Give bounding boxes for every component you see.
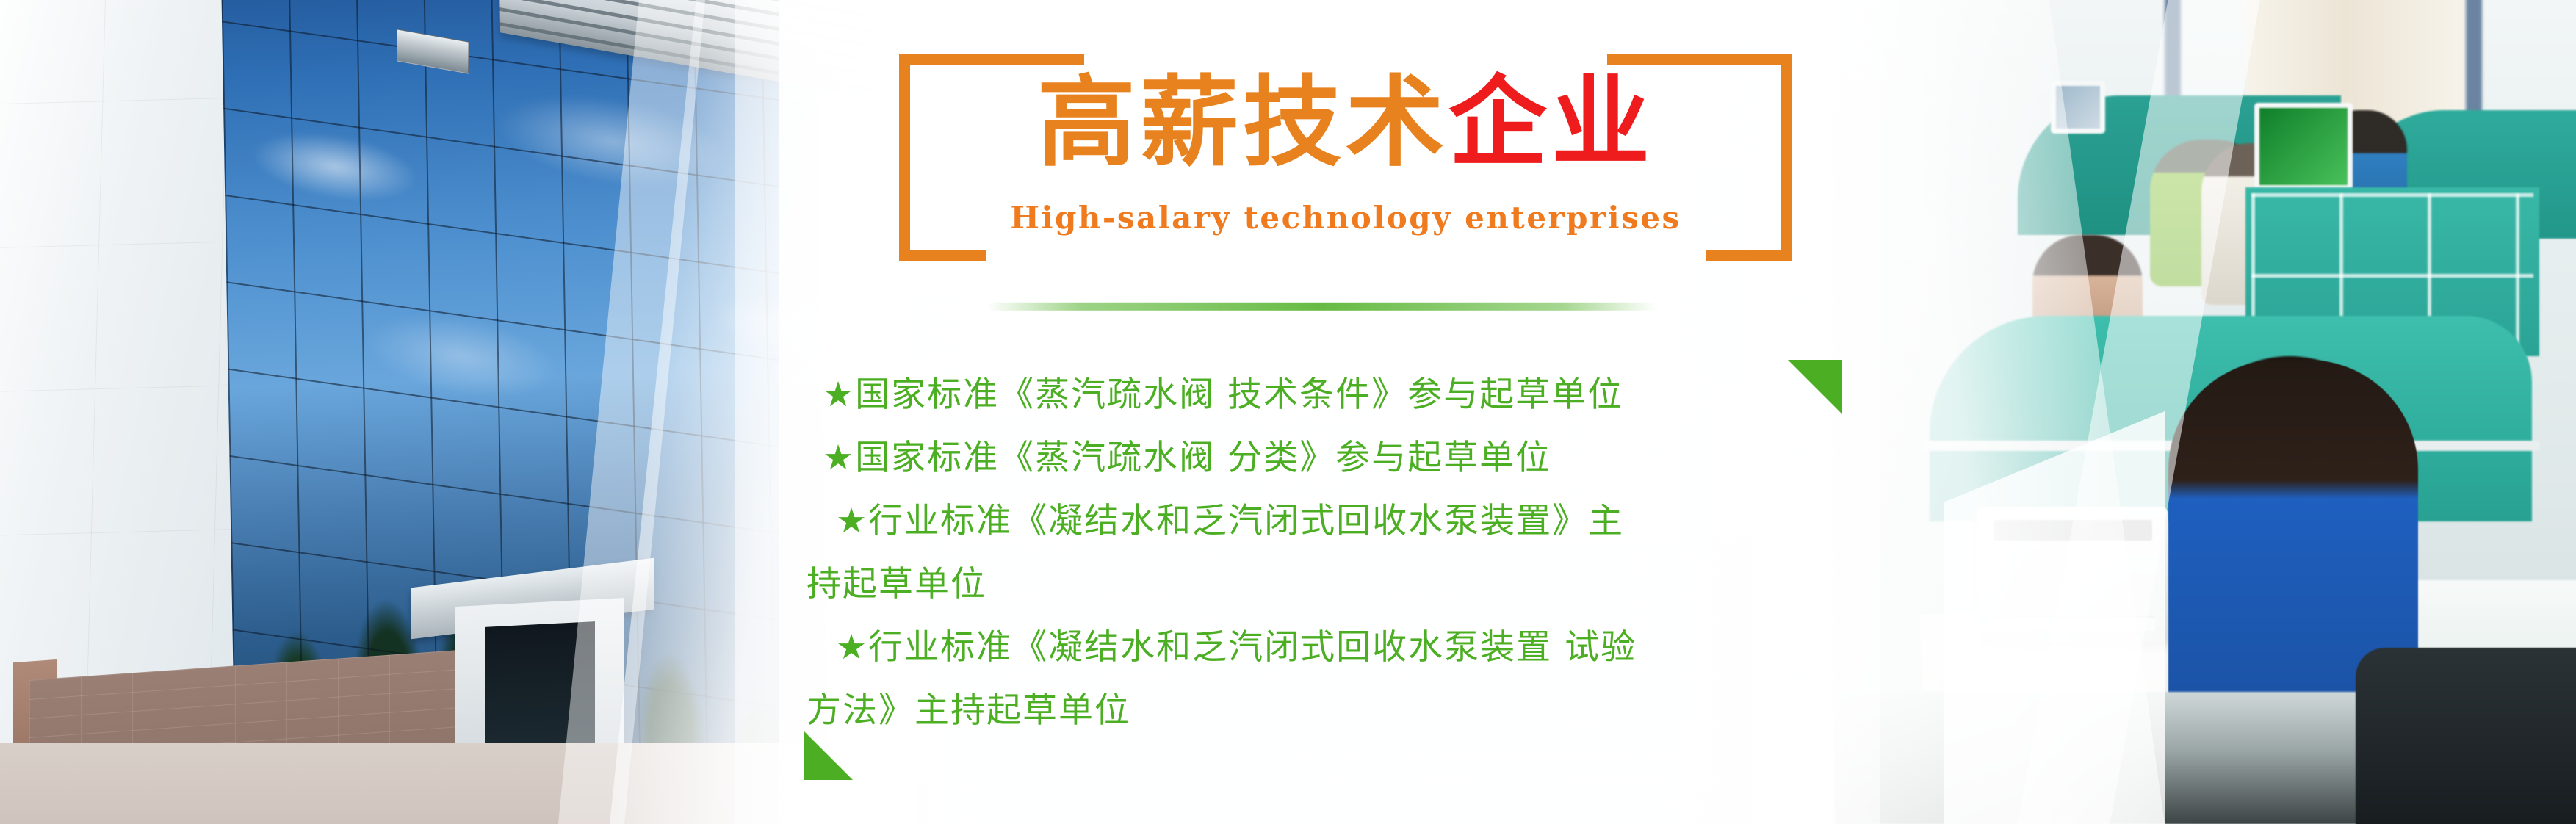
- list-item: ★行业标准《凝结水和乏汽闭式回收水泵装置》主: [836, 490, 1792, 553]
- ground-pavement: [0, 743, 889, 824]
- office-photo: [1834, 0, 2576, 824]
- list-item: ★国家标准《蒸汽疏水阀 分类》参与起草单位: [823, 427, 1792, 490]
- green-triangle-top-right-icon: [1788, 360, 1842, 414]
- list-item: ★行业标准《凝结水和乏汽闭式回收水泵装置 试验: [836, 616, 1792, 679]
- bracket-bottom-left-bar: [899, 250, 986, 261]
- monitor-far: [2051, 81, 2105, 134]
- list-item: ★国家标准《蒸汽疏水阀 技术条件》参与起草单位: [823, 364, 1792, 427]
- monitor-screen-center: [2259, 108, 2348, 185]
- printer: [1977, 507, 2168, 643]
- bracket-top-left-bar: [899, 54, 1084, 65]
- headline-orange-text: 高薪技术: [1037, 65, 1448, 180]
- promo-banner: 高薪技术企业 High-salary technology enterprise…: [0, 0, 2576, 824]
- headline-red-text: 企业: [1448, 65, 1654, 180]
- building-photo: [0, 0, 889, 824]
- bracket-top-right-bar: [1607, 54, 1792, 65]
- office-chair: [2356, 648, 2576, 824]
- list-item: 持起草单位: [807, 553, 1792, 616]
- green-divider: [988, 303, 1656, 311]
- monitor-center: [2254, 103, 2353, 190]
- list-item: 方法》主持起草单位: [807, 679, 1792, 742]
- bracket-bottom-right-bar: [1706, 250, 1792, 261]
- printer-paper-slot: [1994, 520, 2152, 541]
- printer-output-tray: [1991, 616, 2155, 631]
- green-triangle-bottom-left-icon: [804, 731, 853, 780]
- headline-subtitle: High-salary technology enterprises: [899, 200, 1792, 236]
- headline: 高薪技术企业: [899, 68, 1792, 178]
- credentials-list: ★国家标准《蒸汽疏水阀 技术条件》参与起草单位 ★国家标准《蒸汽疏水阀 分类》参…: [823, 364, 1792, 742]
- monitor-screen-far: [2056, 86, 2100, 129]
